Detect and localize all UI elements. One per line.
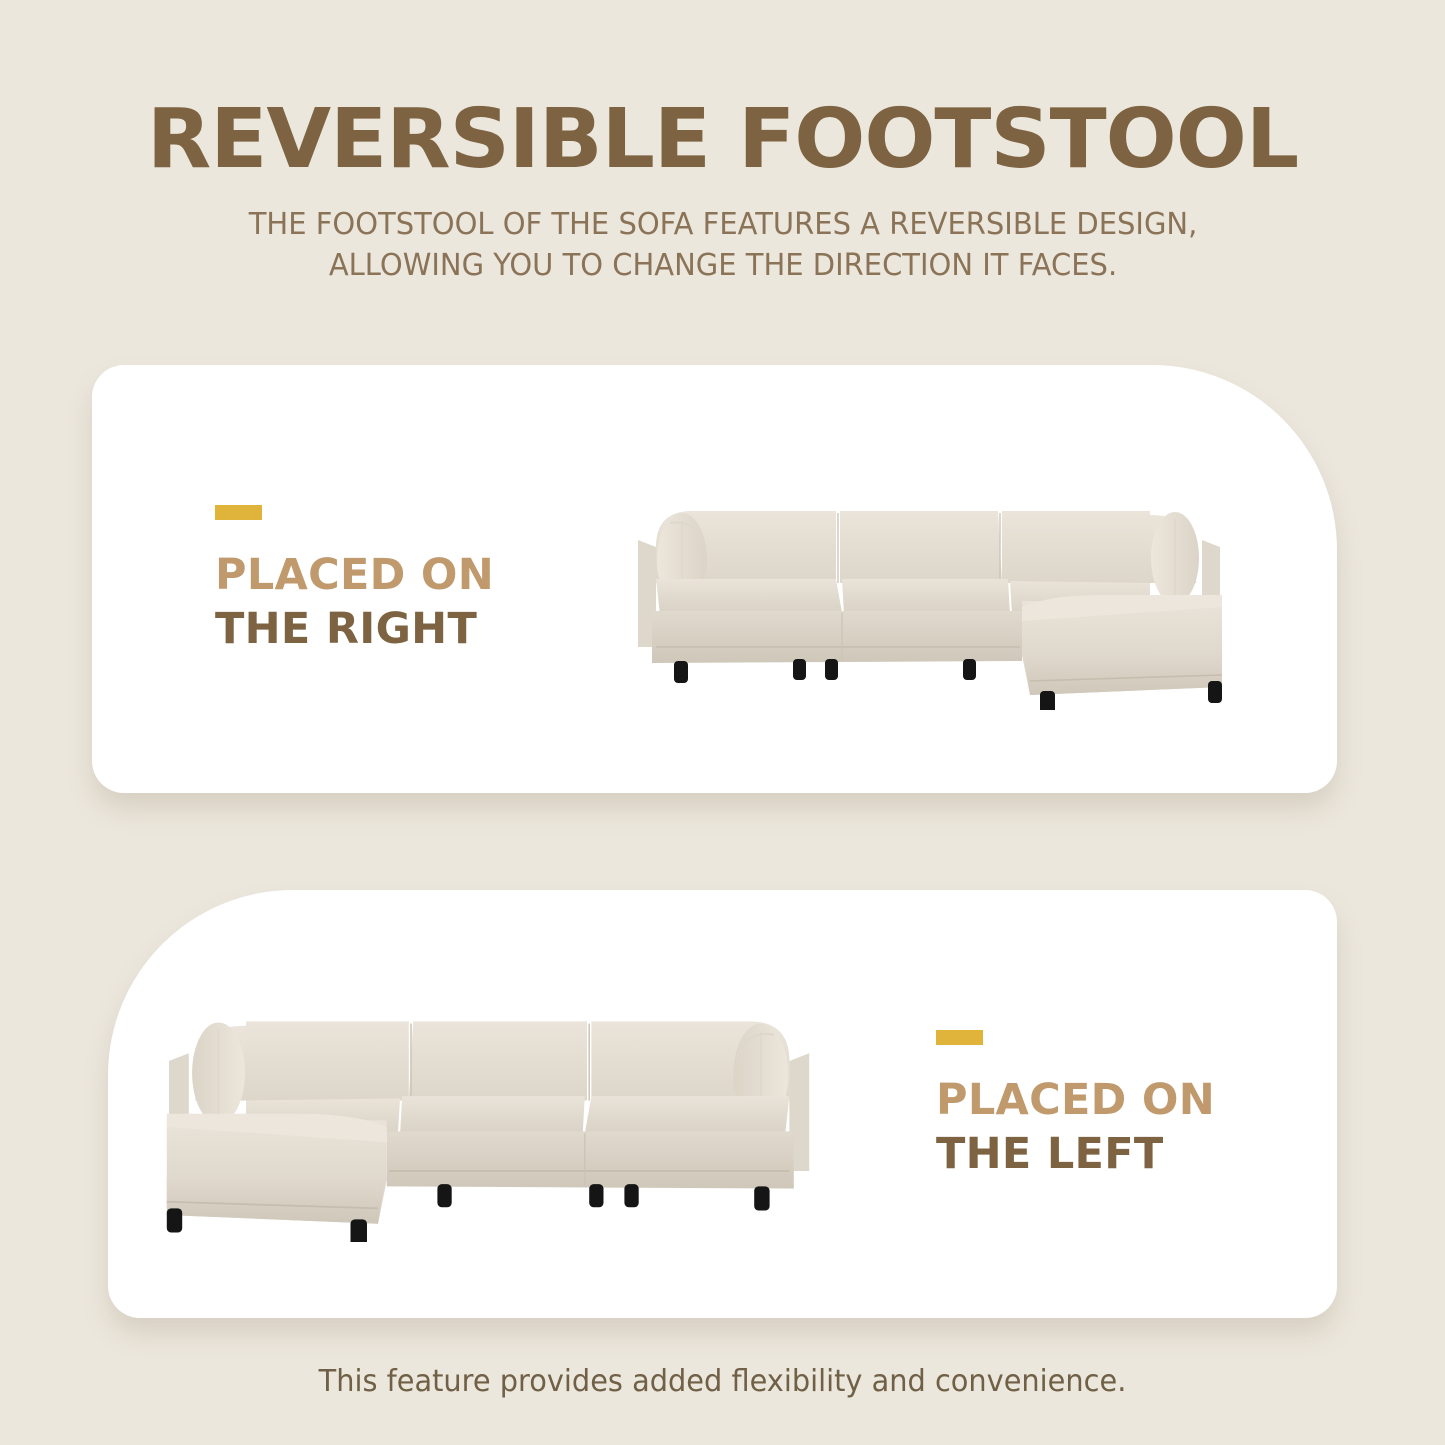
header: REVERSIBLE FOOTSTOOL THE FOOTSTOOL OF TH… xyxy=(0,0,1445,286)
card-left-label-line-2: THE LEFT xyxy=(936,1127,1215,1181)
label-block-right: PLACED ON THE RIGHT xyxy=(215,505,494,656)
accent-bar-icon xyxy=(215,505,262,520)
sofa-image-footstool-right xyxy=(630,495,1230,710)
page-subtitle-line-1: THE FOOTSTOOL OF THE SOFA FEATURES A REV… xyxy=(181,204,1264,245)
sofa-image-footstool-left xyxy=(158,1002,818,1242)
card-right-label-line-1: PLACED ON xyxy=(215,548,494,602)
label-block-left: PLACED ON THE LEFT xyxy=(936,1030,1215,1181)
page-title: REVERSIBLE FOOTSTOOL xyxy=(0,0,1445,184)
page-subtitle: THE FOOTSTOOL OF THE SOFA FEATURES A REV… xyxy=(181,184,1264,286)
footer-note: This feature provides added flexibility … xyxy=(29,1363,1416,1401)
card-right-label-line-2: THE RIGHT xyxy=(215,602,494,656)
accent-bar-icon xyxy=(936,1030,983,1045)
page-subtitle-line-2: ALLOWING YOU TO CHANGE THE DIRECTION IT … xyxy=(181,245,1264,286)
card-left-label-line-1: PLACED ON xyxy=(936,1073,1215,1127)
